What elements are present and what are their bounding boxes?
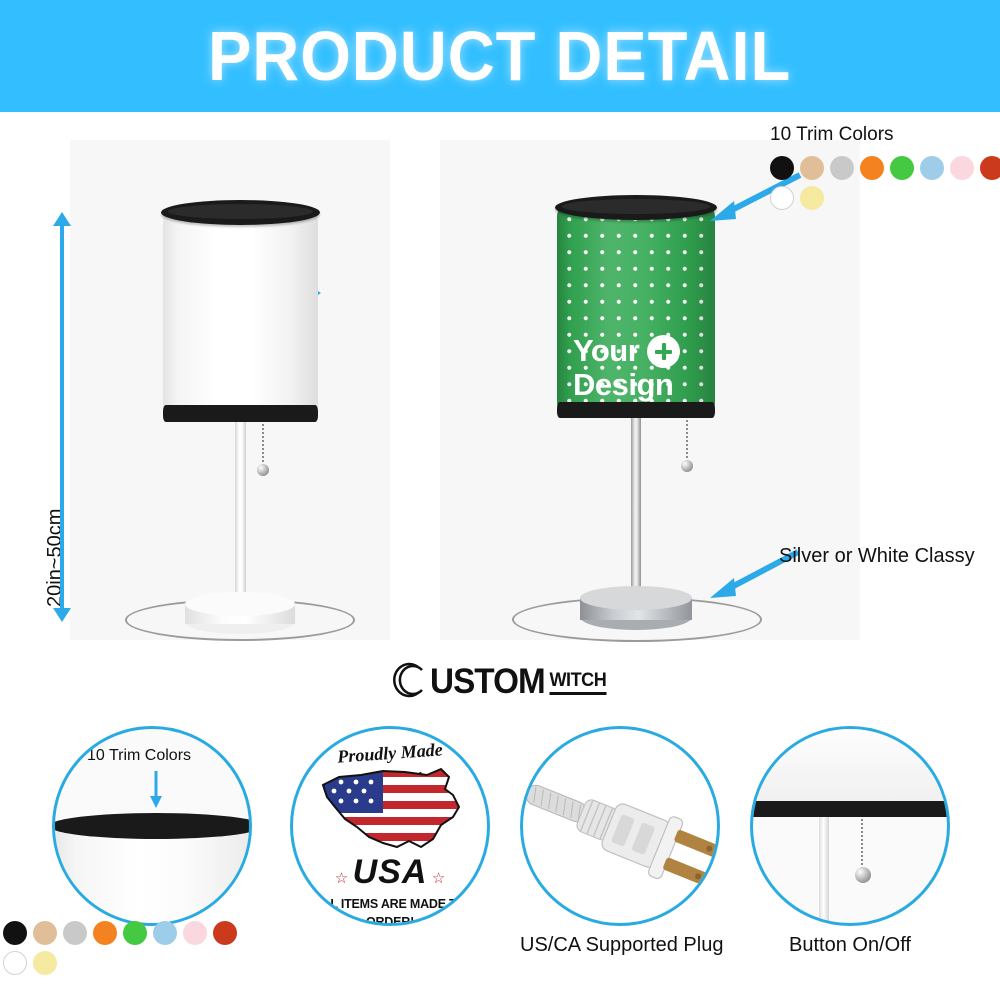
- lamp-shade-green: Your Design: [557, 207, 715, 412]
- feature-shade-bottom-edge: [750, 726, 950, 803]
- usa-star-right-icon: ☆: [432, 870, 445, 887]
- pull-chain-green[interactable]: [686, 420, 688, 464]
- feature-plug-circle: [520, 726, 720, 926]
- trim-swatch-red[interactable]: [213, 921, 237, 945]
- feature-trim-band: [52, 813, 252, 839]
- shade-trim-bottom-white: [163, 405, 318, 422]
- trim-swatch-white[interactable]: [770, 186, 794, 210]
- feature-highlights: 10 Trim Colors Proudly Made in the: [0, 712, 1000, 1000]
- feature-button-caption: Button On/Off: [750, 934, 950, 957]
- lamp-base-silver: [580, 586, 692, 630]
- trim-colors-panel: 10 Trim Colors: [770, 124, 1000, 210]
- feature-plug-caption: US/CA Supported Plug: [520, 934, 720, 957]
- lamp-pole-silver: [631, 417, 641, 599]
- usa-big-text: USA: [353, 853, 428, 891]
- shade-trim-bottom-green: [557, 402, 715, 418]
- your-design-line1: Your: [573, 336, 639, 366]
- brand-logo: USTOM WITCH: [0, 662, 1000, 703]
- trim-swatch-pink[interactable]: [950, 156, 974, 180]
- trim-swatch-yellow[interactable]: [800, 186, 824, 210]
- trim-swatch-light-blue[interactable]: [920, 156, 944, 180]
- pull-chain-white[interactable]: [262, 424, 264, 468]
- feature-trim-colors-arrow: [148, 771, 164, 814]
- feature-pole: [819, 817, 829, 926]
- trim-swatch-red[interactable]: [980, 156, 1000, 180]
- trim-swatch-yellow[interactable]: [33, 951, 57, 975]
- logo-sub-text: WITCH: [549, 671, 606, 695]
- trim-swatch-black[interactable]: [3, 921, 27, 945]
- pull-chain-ball-green[interactable]: [681, 460, 693, 472]
- trim-colors-title: 10 Trim Colors: [770, 124, 1000, 146]
- logo-c-monogram-icon: [392, 662, 426, 698]
- trim-swatch-green[interactable]: [890, 156, 914, 180]
- feature-pull-chain-ball[interactable]: [855, 867, 871, 883]
- your-design-artwork: Your Design: [573, 335, 680, 400]
- usa-map-flag-icon: [309, 755, 477, 859]
- trim-color-swatch-grid-bottom[interactable]: [3, 921, 253, 975]
- feature-trim-colors-circle: 10 Trim Colors: [52, 726, 252, 926]
- trim-swatch-orange[interactable]: [93, 921, 117, 945]
- lamp-base-white: [185, 592, 295, 634]
- your-design-line2: Design: [573, 370, 673, 400]
- shade-trim-top-inner-white: [168, 204, 313, 219]
- feature-pull-chain[interactable]: [861, 819, 863, 871]
- trim-swatch-tan[interactable]: [33, 921, 57, 945]
- feature-trim-band-bottom: [750, 801, 950, 817]
- product-detail-page: PRODUCT DETAIL 7in~18cm 20in~50cm: [0, 0, 1000, 1000]
- page-header-banner: PRODUCT DETAIL: [0, 0, 1000, 112]
- lamp-pole-white: [235, 422, 246, 607]
- feature-button-circle: [750, 726, 950, 926]
- trim-swatch-orange[interactable]: [860, 156, 884, 180]
- trim-swatch-green[interactable]: [123, 921, 147, 945]
- trim-swatch-light-blue[interactable]: [153, 921, 177, 945]
- logo-main-text: USTOM: [430, 666, 545, 698]
- trim-swatch-gray[interactable]: [830, 156, 854, 180]
- pull-chain-ball-white[interactable]: [257, 464, 269, 476]
- trim-color-swatch-grid[interactable]: [770, 156, 1000, 210]
- height-dimension-arrow: [53, 212, 71, 622]
- usa-small-wrap: ALL ITEMS ARE MADE TO ORDER!: [293, 895, 487, 926]
- plus-icon: [647, 335, 680, 368]
- feature-usa-circle: Proudly Made in the: [290, 726, 490, 926]
- usa-star-left-icon: ☆: [335, 870, 348, 887]
- base-finish-callout-label: Silver or White Classy: [775, 544, 979, 569]
- shade-trim-top-inner-green: [562, 199, 710, 214]
- trim-swatch-black[interactable]: [770, 156, 794, 180]
- lamp-shade-white: [163, 212, 318, 417]
- feature-trim-swatch-strip: [3, 921, 253, 975]
- page-title: PRODUCT DETAIL: [208, 16, 791, 96]
- usa-small-text: ALL ITEMS ARE MADE TO ORDER!: [314, 897, 466, 926]
- feature-trim-colors-label: 10 Trim Colors: [87, 747, 191, 765]
- power-plug-icon: [520, 773, 720, 898]
- trim-swatch-white[interactable]: [3, 951, 27, 975]
- trim-swatch-gray[interactable]: [63, 921, 87, 945]
- trim-swatch-tan[interactable]: [800, 156, 824, 180]
- trim-swatch-pink[interactable]: [183, 921, 207, 945]
- usa-big-wrap: ☆ USA ☆: [293, 853, 487, 892]
- feature-shade-preview: [52, 829, 252, 926]
